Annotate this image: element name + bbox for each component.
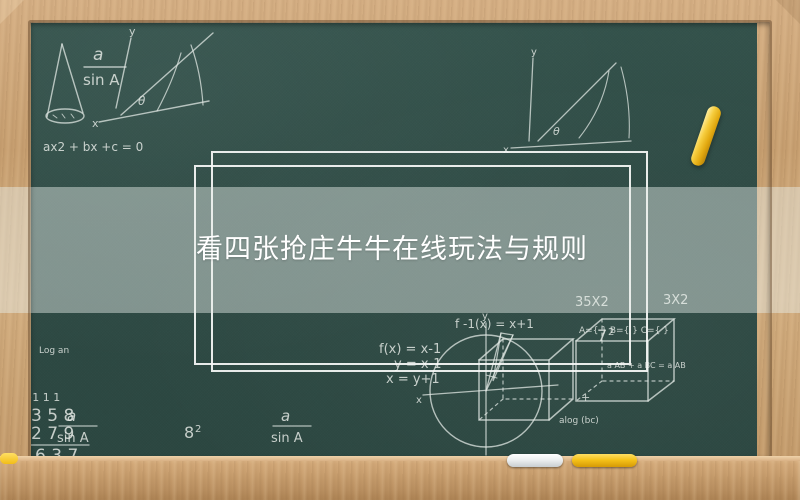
yellow-chalk-stick-edge: [0, 453, 18, 464]
page-title: 看四张抢庄牛牛在线玩法与规则: [196, 234, 588, 266]
white-chalk-stick: [507, 454, 563, 467]
chalk-ledge: [0, 456, 800, 500]
ledge-lip: [0, 456, 800, 461]
title-overlay-band: 看四张抢庄牛牛在线玩法与规则: [0, 187, 800, 313]
arithmetic-group-offset: +: [581, 391, 590, 404]
yellow-chalk-stick-ledge: [572, 454, 637, 467]
svg-text:+: +: [581, 391, 590, 404]
chalkboard-banner: a sin A y x θ ax2 + bx +c = 0 f(x) = x-1: [0, 0, 800, 500]
